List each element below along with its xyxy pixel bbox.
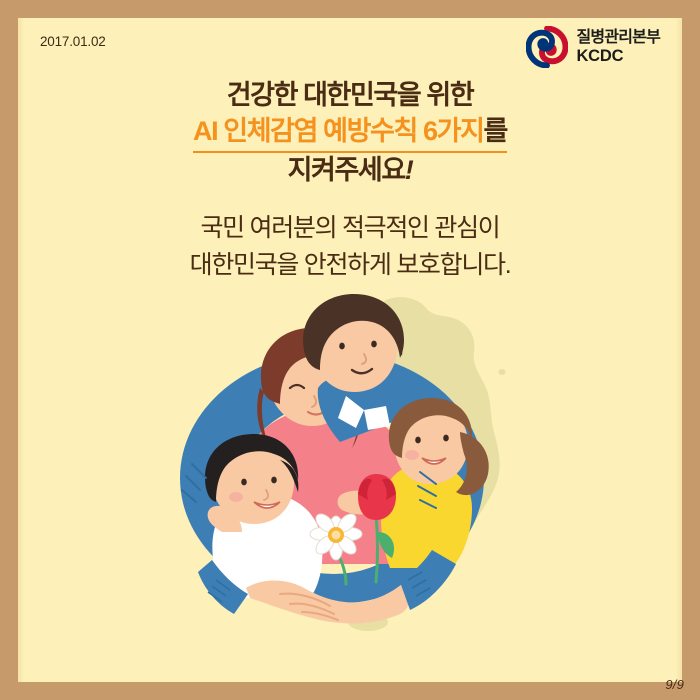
taegeuk-icon	[526, 26, 568, 68]
logo-korean-name: 질병관리본부	[576, 29, 660, 47]
subtext-line-1: 국민 여러분의 적극적인 관심이	[18, 210, 682, 247]
content-panel: 2017.01.02 질병관리본부 KCDC 건강한 대한민국을 위한 AI 인…	[18, 18, 682, 682]
family-embrace-illustration	[18, 292, 682, 652]
logo-english-name: KCDC	[576, 47, 660, 65]
headline-line-3: 지켜주세요!	[18, 153, 682, 189]
subtext-block: 국민 여러분의 적극적인 관심이 대한민국을 안전하게 보호합니다.	[18, 210, 682, 283]
headline-accent-suffix: 를	[484, 116, 507, 146]
page-indicator: 9/9	[665, 677, 684, 692]
headline-block: 건강한 대한민국을 위한 AI 인체감염 예방수칙 6가지를 지켜주세요!	[18, 78, 682, 189]
infographic-card: 2017.01.02 질병관리본부 KCDC 건강한 대한민국을 위한 AI 인…	[0, 0, 700, 700]
publish-date: 2017.01.02	[40, 34, 106, 49]
headline-accent-text: AI 인체감염 예방수칙 6가지	[193, 116, 484, 146]
logo-text-block: 질병관리본부 KCDC	[576, 29, 660, 65]
kcdc-logo: 질병관리본부 KCDC	[526, 26, 660, 68]
headline-exclamation: !	[405, 155, 413, 185]
headline-line-1: 건강한 대한민국을 위한	[18, 78, 682, 114]
headline-underline-group: AI 인체감염 예방수칙 6가지를	[193, 114, 507, 153]
subtext-line-2: 대한민국을 안전하게 보호합니다.	[18, 247, 682, 284]
headline-line-3-text: 지켜주세요	[288, 155, 405, 185]
illustration-canvas	[150, 292, 550, 648]
headline-line-2: AI 인체감염 예방수칙 6가지를	[18, 114, 682, 153]
